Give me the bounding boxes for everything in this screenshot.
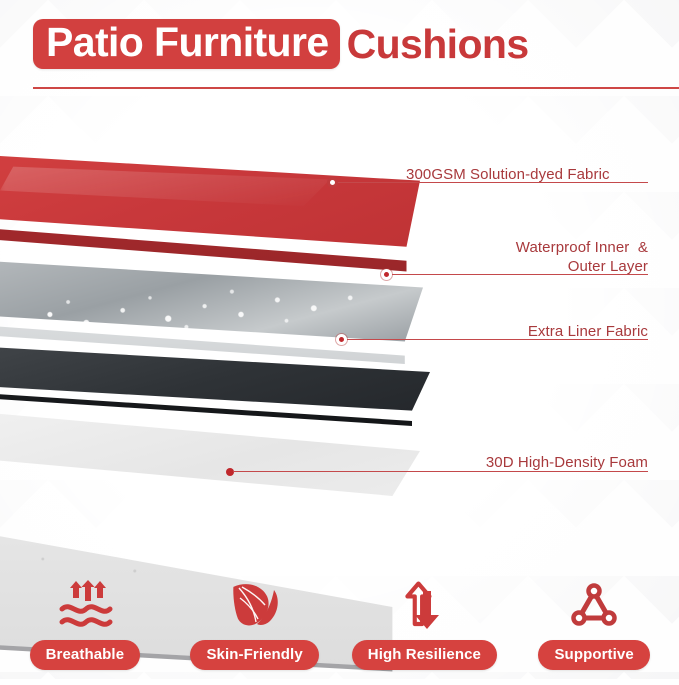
callout-label-fabric: 300GSM Solution-dyed Fabric: [406, 165, 610, 184]
callout-marker-fabric: [327, 177, 338, 188]
title-badge-label: Patio Furniture: [46, 22, 329, 63]
feature-supportive[interactable]: Supportive: [509, 576, 679, 670]
feature-badges-row: Breathable Skin-Friendly: [0, 560, 679, 670]
feature-label-supportive[interactable]: Supportive: [538, 640, 649, 670]
feather-icon: [224, 576, 286, 634]
page-title: Patio Furniture Cushions: [33, 16, 529, 72]
feature-skin-friendly[interactable]: Skin-Friendly: [170, 576, 340, 670]
triangle-nodes-icon: [563, 576, 625, 634]
breathable-icon: [54, 576, 116, 634]
title-badge: Patio Furniture: [33, 19, 340, 69]
callout-marker-liner: [336, 334, 347, 345]
callout-label-foam: 30D High-Density Foam: [348, 453, 648, 472]
cushion-exploded-view: [0, 150, 450, 550]
page-header: Patio Furniture Cushions: [0, 16, 679, 86]
callout-label-waterproof-line1: Waterproof Inner &: [348, 238, 648, 257]
feature-label-breathable[interactable]: Breathable: [30, 640, 141, 670]
callout-label-liner: Extra Liner Fabric: [348, 322, 648, 341]
feature-high-resilience[interactable]: High Resilience: [340, 576, 510, 670]
title-divider: [33, 87, 679, 89]
feature-label-high-resilience[interactable]: High Resilience: [352, 640, 497, 670]
title-tail-label: Cushions: [347, 24, 529, 65]
infographic-stage: Patio Furniture Cushions: [0, 0, 679, 679]
callout-marker-foam: [226, 468, 234, 476]
feature-label-skin-friendly[interactable]: Skin-Friendly: [190, 640, 318, 670]
feature-breathable[interactable]: Breathable: [0, 576, 170, 670]
callout-label-waterproof-line2: Outer Layer: [348, 257, 648, 276]
up-down-arrows-icon: [393, 576, 455, 634]
